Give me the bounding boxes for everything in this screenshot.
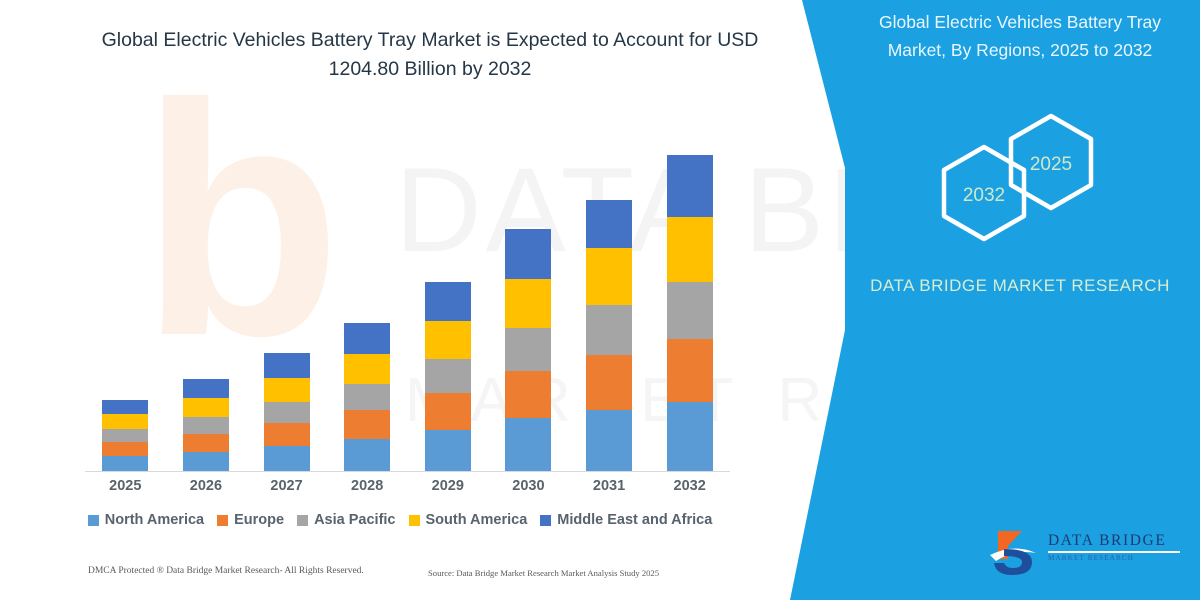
banner-title: Global Electric Vehicles Battery Tray Ma…: [855, 8, 1185, 64]
bar-segment[interactable]: [264, 402, 310, 423]
x-tick-2028: 2028: [337, 478, 397, 494]
bar-segment[interactable]: [425, 321, 471, 359]
chart-panel: Global Electric Vehicles Battery Tray Ma…: [0, 0, 800, 600]
x-tick-2030: 2030: [498, 478, 558, 494]
legend-label: Europe: [234, 512, 284, 528]
bar-segment[interactable]: [102, 400, 148, 414]
legend-label: Middle East and Africa: [557, 512, 712, 528]
bar-segment[interactable]: [264, 353, 310, 378]
x-tick-2025: 2025: [95, 478, 155, 494]
logo-title: DATA BRIDGE: [1048, 532, 1188, 550]
bar-segment[interactable]: [586, 305, 632, 355]
bar-segment[interactable]: [183, 434, 229, 452]
source-note: Source: Data Bridge Market Research Mark…: [428, 568, 659, 578]
regions-banner: Global Electric Vehicles Battery Tray Ma…: [760, 0, 1200, 600]
legend-item[interactable]: Middle East and Africa: [540, 512, 712, 528]
bar-segment[interactable]: [505, 418, 551, 472]
legend-item[interactable]: North America: [88, 512, 204, 528]
x-axis-line: [85, 471, 730, 472]
bar-segment[interactable]: [586, 355, 632, 410]
bar-segment[interactable]: [667, 155, 713, 217]
bar-segment[interactable]: [344, 410, 390, 439]
bar-segment[interactable]: [586, 248, 632, 305]
legend-swatch-icon: [88, 515, 99, 526]
legend-item[interactable]: South America: [409, 512, 528, 528]
legend-swatch-icon: [540, 515, 551, 526]
bar-segment[interactable]: [344, 323, 390, 354]
chart-legend: North AmericaEuropeAsia PacificSouth Ame…: [0, 512, 800, 528]
x-tick-2029: 2029: [418, 478, 478, 494]
bar-stack-2025[interactable]: [102, 400, 148, 472]
bar-segment[interactable]: [264, 446, 310, 472]
bar-stack-2030[interactable]: [505, 229, 551, 472]
bar-stack-2026[interactable]: [183, 379, 229, 472]
legend-label: South America: [426, 512, 528, 528]
bar-segment[interactable]: [667, 217, 713, 282]
bar-segment[interactable]: [505, 371, 551, 418]
bar-segment[interactable]: [505, 279, 551, 328]
bar-segment[interactable]: [344, 354, 390, 384]
logo-subtitle: MARKET RESEARCH: [1048, 554, 1188, 562]
legend-swatch-icon: [217, 515, 228, 526]
legend-label: Asia Pacific: [314, 512, 395, 528]
chart-plot-area: [85, 140, 725, 472]
bar-stack-2028[interactable]: [344, 323, 390, 472]
hexagon-badge-2032: 2032: [938, 143, 1030, 248]
hexagon-2032-label: 2032: [938, 143, 1030, 248]
x-tick-2031: 2031: [579, 478, 639, 494]
bar-segment[interactable]: [183, 398, 229, 417]
legend-item[interactable]: Asia Pacific: [297, 512, 395, 528]
bar-segment[interactable]: [102, 429, 148, 442]
bar-segment[interactable]: [264, 378, 310, 402]
footer: DMCA Protected ® Data Bridge Market Rese…: [0, 566, 800, 588]
bar-stack-2029[interactable]: [425, 282, 471, 472]
logo-divider: [1048, 551, 1180, 553]
data-bridge-b-logo-icon: [988, 529, 1040, 577]
bar-segment[interactable]: [102, 456, 148, 472]
bar-stack-2032[interactable]: [667, 155, 713, 472]
bar-stack-2027[interactable]: [264, 353, 310, 472]
x-tick-2027: 2027: [257, 478, 317, 494]
x-tick-2032: 2032: [660, 478, 720, 494]
legend-label: North America: [105, 512, 204, 528]
data-bridge-logo: DATA BRIDGE MARKET RESEARCH: [988, 527, 1188, 579]
bar-segment[interactable]: [505, 229, 551, 279]
brand-name: DATA BRIDGE MARKET RESEARCH: [855, 272, 1185, 300]
bar-segment[interactable]: [344, 439, 390, 472]
bar-segment[interactable]: [102, 414, 148, 429]
legend-swatch-icon: [297, 515, 308, 526]
bar-segment[interactable]: [344, 384, 390, 410]
bar-segment[interactable]: [425, 393, 471, 430]
bar-segment[interactable]: [425, 359, 471, 393]
x-axis-tick-labels: 20252026202720282029203020312032: [85, 478, 730, 500]
bar-stack-2031[interactable]: [586, 200, 632, 472]
x-tick-2026: 2026: [176, 478, 236, 494]
legend-item[interactable]: Europe: [217, 512, 284, 528]
bar-segment[interactable]: [505, 328, 551, 371]
bar-segment[interactable]: [586, 410, 632, 472]
bar-segment[interactable]: [425, 282, 471, 321]
legend-swatch-icon: [409, 515, 420, 526]
bar-segment[interactable]: [183, 452, 229, 472]
dmca-notice: DMCA Protected ® Data Bridge Market Rese…: [88, 566, 364, 576]
bar-segment[interactable]: [667, 402, 713, 472]
page-title: Global Electric Vehicles Battery Tray Ma…: [80, 26, 780, 84]
bar-segment[interactable]: [183, 417, 229, 434]
bar-segment[interactable]: [264, 423, 310, 446]
logo-wordmark: DATA BRIDGE MARKET RESEARCH: [1048, 532, 1188, 562]
bar-segment[interactable]: [667, 282, 713, 339]
bar-segment[interactable]: [183, 379, 229, 398]
bar-segment[interactable]: [667, 339, 713, 402]
bar-segment[interactable]: [102, 442, 148, 456]
bar-segment[interactable]: [425, 430, 471, 472]
bar-segment[interactable]: [586, 200, 632, 248]
